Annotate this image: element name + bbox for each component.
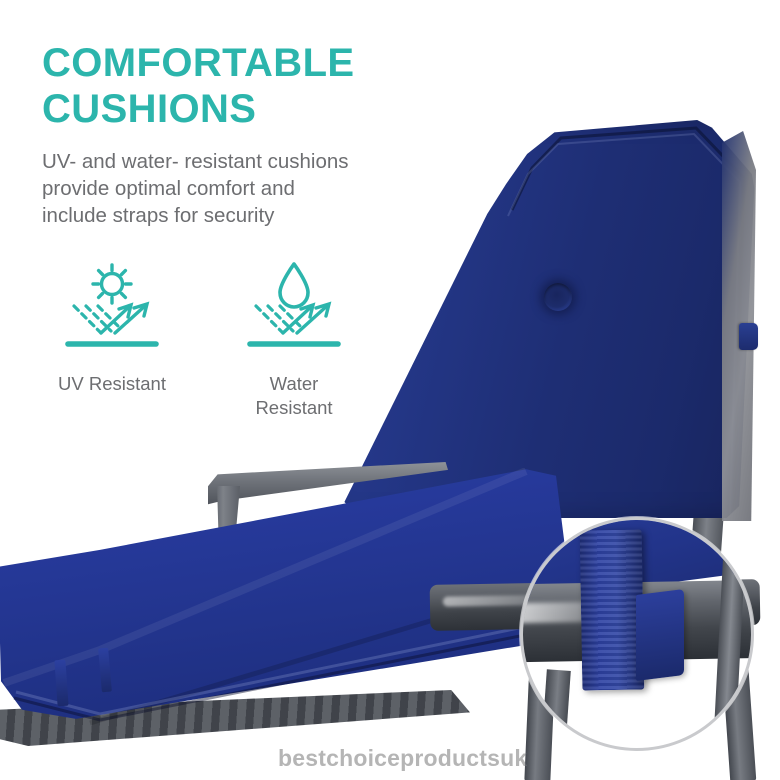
backrest-strap-tab [739,323,758,350]
feature-uv-resistant: UV Resistant [42,262,182,420]
feature-water-label: Water Resistant [224,372,364,420]
feature-water-label-line-2: Resistant [224,396,364,420]
watermark: bestchoiceproductsuk [278,745,527,772]
product-marketing-image: COMFORTABLE CUSHIONS UV- and water- resi… [0,0,780,780]
feature-water-label-line-1: Water [224,372,364,396]
subcopy: UV- and water- resistant cushions provid… [42,148,432,229]
headline-line-2: CUSHIONS [42,86,442,132]
uv-resistant-icon [42,262,182,358]
magnified-webbing-strap-end [636,589,684,681]
page-title: COMFORTABLE CUSHIONS [42,40,442,132]
subcopy-line-3: include straps for security [42,202,432,229]
subcopy-line-1: UV- and water- resistant cushions [42,148,432,175]
water-resistant-icon [224,262,364,358]
headline-line-1: COMFORTABLE [42,40,442,86]
tufted-button [544,283,572,311]
magnified-webbing-strap [580,529,645,690]
feature-badges: UV Resistant [42,262,372,420]
feature-uv-label: UV Resistant [42,372,182,396]
feature-uv-label-line-1: UV Resistant [42,372,182,396]
magnifier-callout [520,517,754,751]
magnified-leg [539,669,571,751]
feature-water-resistant: Water Resistant [224,262,364,420]
subcopy-line-2: provide optimal comfort and [42,175,432,202]
magnifier-content [523,520,751,748]
